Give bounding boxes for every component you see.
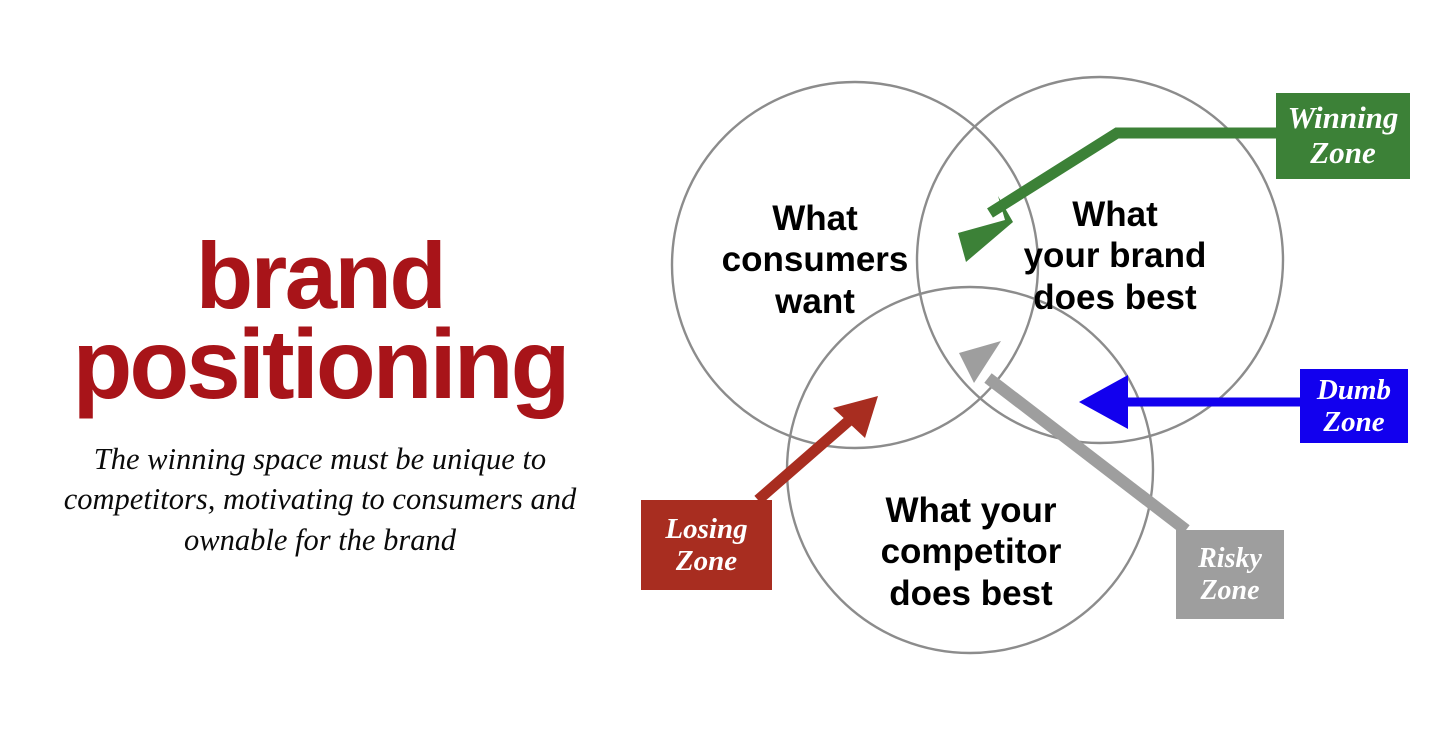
zone-badge-risky[interactable]: Risky Zone bbox=[1176, 530, 1284, 619]
circle-label-brand: What your brand does best bbox=[985, 194, 1245, 318]
zone-badge-dumb[interactable]: Dumb Zone bbox=[1300, 369, 1408, 443]
venn-diagram bbox=[0, 0, 1440, 754]
slide-canvas: brand positioning The winning space must… bbox=[0, 0, 1440, 754]
zone-badge-winning[interactable]: Winning Zone bbox=[1276, 93, 1410, 179]
circle-label-consumers: What consumers want bbox=[690, 198, 940, 322]
zone-badge-losing[interactable]: Losing Zone bbox=[641, 500, 772, 590]
circle-label-competitor: What your competitor does best bbox=[840, 490, 1102, 614]
